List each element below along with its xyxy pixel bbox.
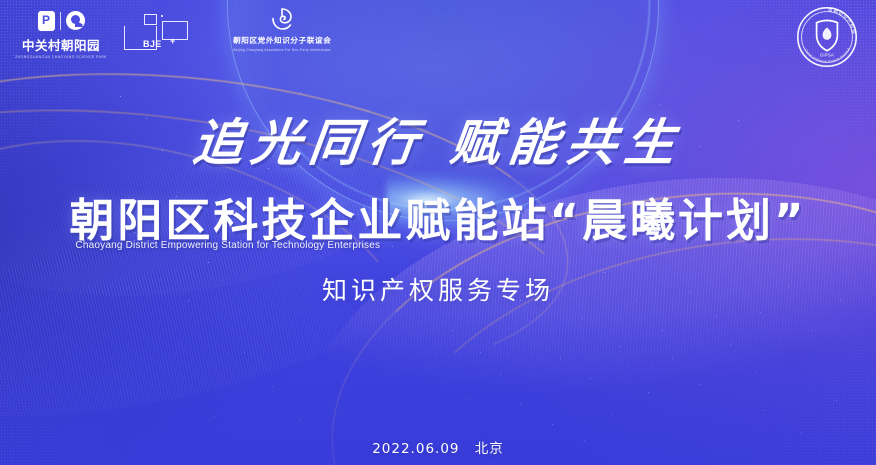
event-city: 北京 [475, 441, 504, 457]
logo-bje: BJE + [122, 12, 192, 56]
partner-logo-group: 中关村朝阳园 ZHONGGUANCUN CHAOYANG SCIENCE PAR… [18, 8, 336, 60]
event-poster: 中关村朝阳园 ZHONGGUANCUN CHAOYANG SCIENCE PAR… [0, 0, 876, 465]
association-name-en: Beijing Chaoyang Association For Non-Par… [234, 48, 331, 52]
bje-label: BJE [143, 39, 162, 49]
poster-headline: 追光同行 赋能共生 [0, 116, 876, 170]
event-date: 2022.06.09 [372, 441, 459, 457]
logo-association: 朝阳区党外知识分子联谊会 Beijing Chaoyang Associatio… [228, 8, 336, 60]
bje-plus-label: + [170, 36, 175, 46]
svg-text:GIPSA: GIPSA [820, 53, 834, 58]
logo-zhongguancun: 中关村朝阳园 ZHONGGUANCUN CHAOYANG SCIENCE PAR… [18, 10, 104, 59]
poster-subtitle-block: 朝阳区科技企业赋能站“晨曦计划”Chaoyang District Empowe… [0, 196, 876, 246]
logo-divider [60, 12, 61, 30]
poster-footer: 2022.06.09 北京 [0, 437, 876, 457]
p-badge-icon [38, 11, 55, 31]
logo-gipsa-badge: 首都知识产权服务业协会 Capital Intellectual Propert… [796, 6, 858, 68]
shield-badge-icon: 首都知识产权服务业协会 Capital Intellectual Propert… [796, 6, 858, 68]
poster-subtitle-en: Chaoyang District Empowering Station for… [75, 240, 380, 251]
poster-session-title: 知识产权服务专场 [0, 271, 876, 307]
nested-squares-icon [144, 14, 157, 25]
poster-subtitle-cn: 朝阳区科技企业赋能站“晨曦计划”Chaoyang District Empowe… [69, 196, 806, 246]
zhongguancun-name-en: ZHONGGUANCUN CHAOYANG SCIENCE PARK [15, 54, 107, 58]
zhongguancun-name-cn: 中关村朝阳园 [22, 35, 100, 54]
association-name-cn: 朝阳区党外知识分子联谊会 [232, 35, 331, 46]
bje-dot-icon [161, 15, 163, 17]
crescent-circle-icon [66, 11, 85, 30]
logo-bar: 中关村朝阳园 ZHONGGUANCUN CHAOYANG SCIENCE PAR… [0, 0, 876, 74]
swirl-wave-icon [269, 8, 295, 32]
zhongguancun-marks [38, 10, 85, 32]
